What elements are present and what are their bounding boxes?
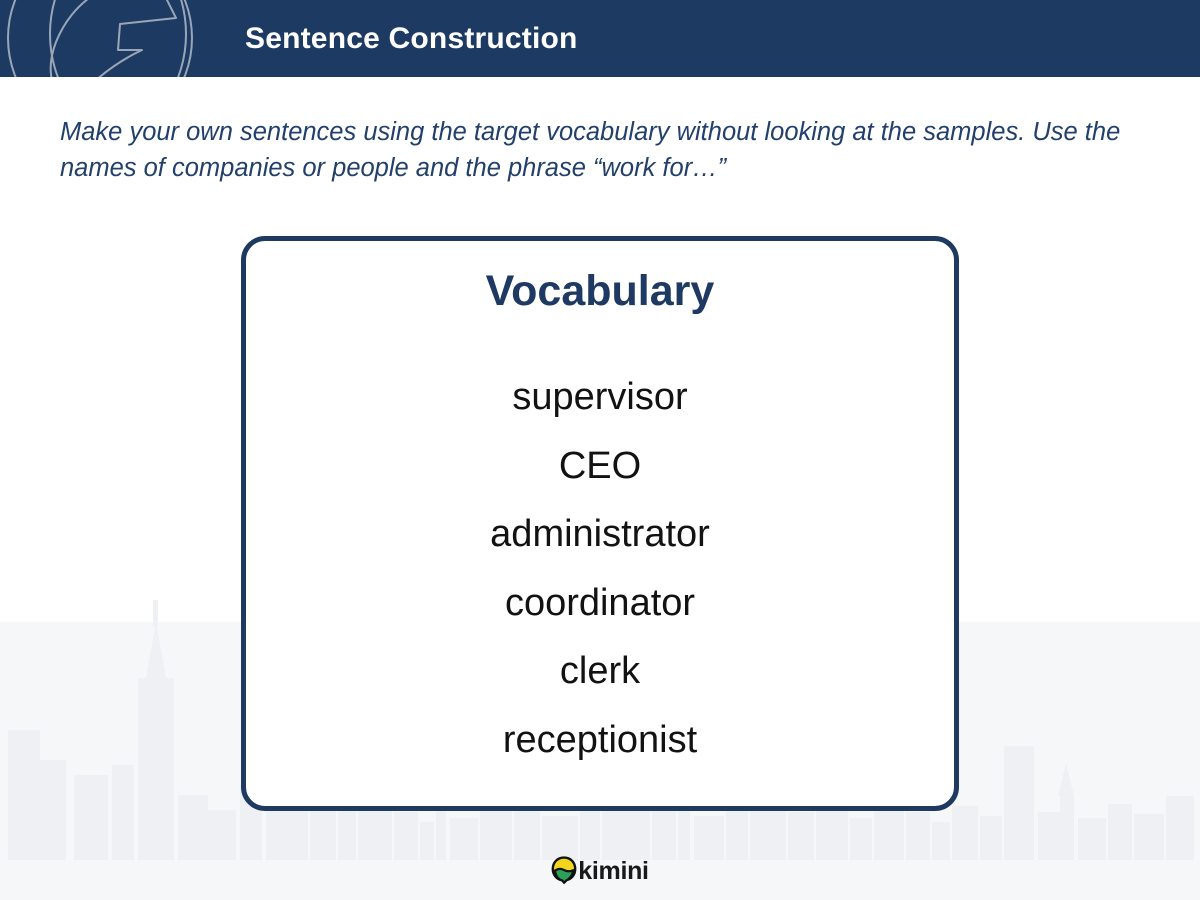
instruction-text: Make your own sentences using the target… — [60, 114, 1170, 186]
kimini-g-outline-icon — [0, 0, 210, 77]
list-item: CEO — [246, 432, 954, 501]
brand-name: kimini — [578, 859, 648, 884]
vocabulary-word-list: supervisor CEO administrator coordinator… — [246, 363, 954, 774]
page-header: Sentence Construction — [0, 0, 1200, 77]
kimini-acorn-logo-icon — [551, 856, 577, 884]
brand-logo: kimini — [551, 856, 648, 884]
vocabulary-card: Vocabulary supervisor CEO administrator … — [241, 236, 959, 811]
list-item: clerk — [246, 637, 954, 706]
list-item: coordinator — [246, 569, 954, 638]
page-title: Sentence Construction — [245, 0, 578, 77]
vocabulary-heading: Vocabulary — [246, 267, 954, 316]
list-item: supervisor — [246, 363, 954, 432]
list-item: administrator — [246, 500, 954, 569]
slide-root: Sentence Construction Make your own sent… — [0, 0, 1200, 900]
page-footer: kimini — [0, 848, 1200, 892]
list-item: receptionist — [246, 706, 954, 775]
